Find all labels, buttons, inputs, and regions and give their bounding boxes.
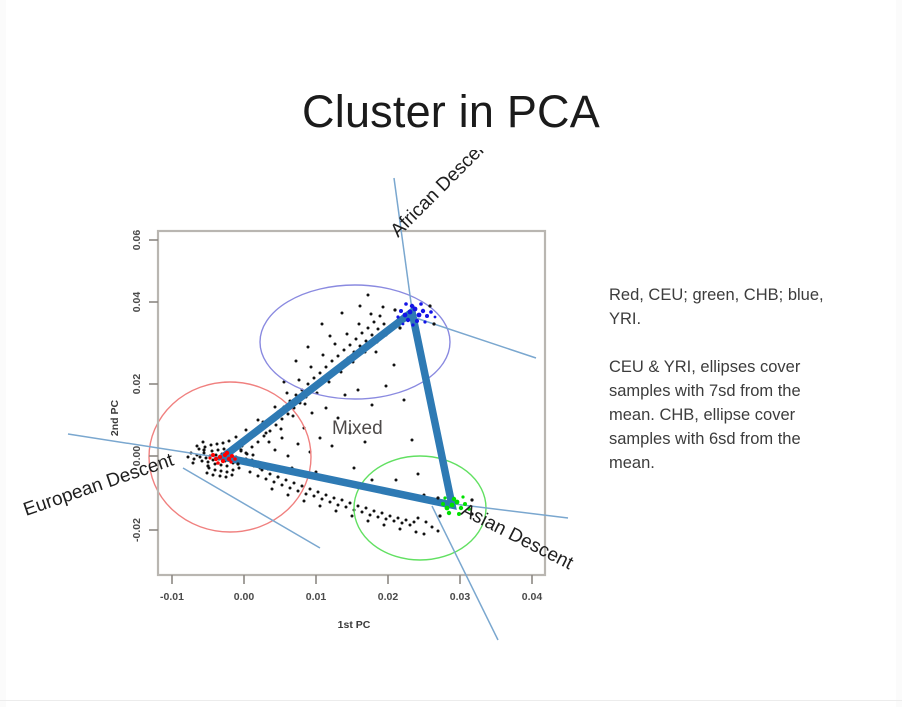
callout-mixed: Mixed xyxy=(332,418,383,439)
pca-scatter-figure: -0.01 0.00 0.01 0.02 0.03 0.04 0.06 0.04… xyxy=(20,150,610,660)
y-tick-label: 0.04 xyxy=(131,292,143,313)
slide-bottom-rule xyxy=(0,700,902,701)
y-axis-tick-labels: 0.06 0.04 0.02 0.00 -0.02 xyxy=(131,230,143,542)
x-tick-label: 0.02 xyxy=(378,591,399,603)
leader-line-asian-right xyxy=(438,502,568,518)
leader-line-european-lower xyxy=(183,468,320,548)
slide-canvas: Cluster in PCA xyxy=(0,0,902,707)
callout-african-descent: African Descent xyxy=(387,150,497,242)
page-title: Cluster in PCA xyxy=(0,86,902,138)
y-axis-title: 2nd PC xyxy=(109,399,121,436)
x-axis-title: 1st PC xyxy=(338,619,371,631)
x-tick-label: 0.04 xyxy=(522,591,543,603)
legend-notes-panel: Red, CEU; green, CHB; blue, YRI. CEU & Y… xyxy=(609,283,824,475)
leader-line-african-diag xyxy=(410,316,536,358)
scatter-points-admixed xyxy=(187,294,440,536)
notes-paragraph-1: Red, CEU; green, CHB; blue, YRI. xyxy=(609,283,824,331)
notes-paragraph-2: CEU & YRI, ellipses cover samples with 7… xyxy=(609,355,824,475)
x-tick-label: -0.01 xyxy=(160,591,184,603)
x-tick-label: 0.03 xyxy=(450,591,471,603)
x-axis-tick-labels: -0.01 0.00 0.01 0.02 0.03 0.04 xyxy=(160,591,542,603)
y-tick-label: 0.06 xyxy=(131,230,143,251)
y-tick-label: -0.02 xyxy=(131,518,143,542)
callout-european-descent: European Descent xyxy=(21,449,177,520)
callout-leader-lines xyxy=(68,178,568,640)
y-tick-label: 0.02 xyxy=(131,374,143,395)
x-tick-label: 0.01 xyxy=(306,591,327,603)
axis-ticks xyxy=(149,240,532,584)
x-tick-label: 0.00 xyxy=(234,591,255,603)
